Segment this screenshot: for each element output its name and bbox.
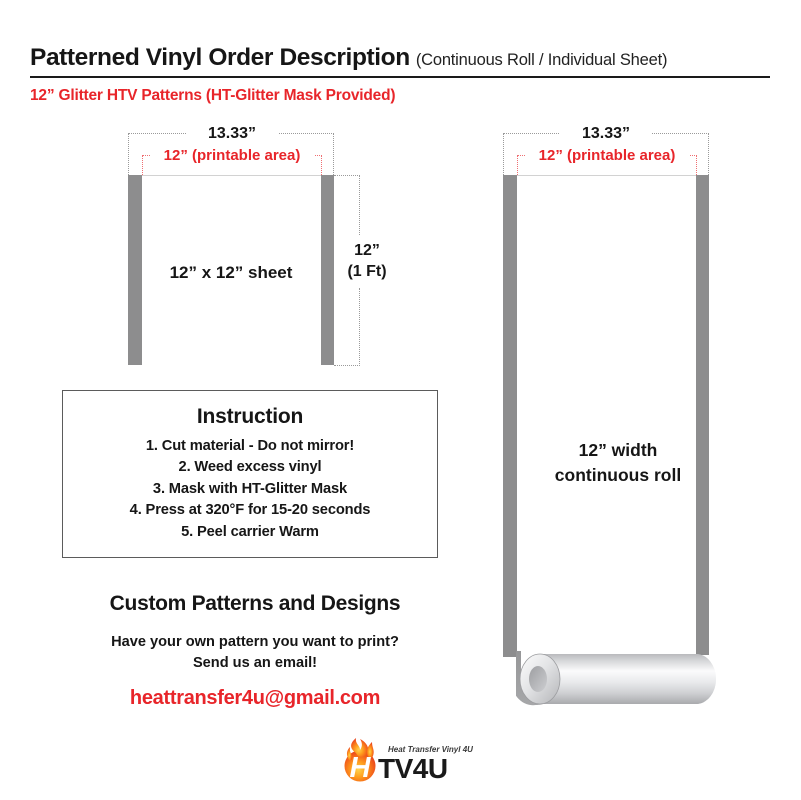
roll-printable-dim-tick-right — [696, 155, 697, 175]
roll-left-margin-bar — [503, 175, 517, 657]
instruction-step-list: 1. Cut material - Do not mirror! 2. Weed… — [63, 436, 437, 543]
roll-printable-dim-tick-left — [517, 155, 518, 175]
logo-letter-h: H — [350, 752, 372, 784]
custom-patterns-question-line2: Send us an email! — [55, 653, 455, 674]
sheet-height-dim-line-lower — [359, 288, 360, 366]
sheet-printable-dim-tick-left — [142, 155, 143, 175]
sheet-height-label: 12” (1 Ft) — [338, 240, 396, 282]
roll-outer-dim-tick-right — [708, 133, 709, 175]
list-item: 1. Cut material - Do not mirror! — [63, 436, 437, 457]
sheet-height-dim-tick-bottom — [334, 365, 360, 366]
header-divider — [30, 76, 770, 78]
sheet-printable-dim-tick-right — [321, 155, 322, 175]
sheet-face-caption: 12” x 12” sheet — [140, 263, 322, 283]
sheet-height-dim-tick-top — [334, 175, 360, 176]
roll-cylinder-icon — [516, 651, 718, 707]
custom-patterns-question-line1: Have your own pattern you want to print? — [55, 632, 455, 653]
roll-outer-dim-tick-left — [503, 133, 504, 175]
sheet-total-width-label: 13.33” — [186, 126, 278, 142]
instruction-box: Instruction 1. Cut material - Do not mir… — [62, 390, 438, 558]
list-item: 5. Peel carrier Warm — [63, 522, 437, 543]
list-item: 2. Weed excess vinyl — [63, 457, 437, 478]
sheet-height-label-line1: 12” — [338, 240, 396, 261]
roll-total-width-label: 13.33” — [560, 126, 652, 142]
sheet-printable-width-label: 12” (printable area) — [150, 148, 314, 163]
roll-printable-width-label: 12” (printable area) — [525, 148, 689, 163]
roll-printable-face — [517, 175, 696, 658]
custom-patterns-heading: Custom Patterns and Designs — [55, 592, 455, 616]
sheet-right-margin-bar — [321, 175, 334, 365]
page-subtitle: (Continuous Roll / Individual Sheet) — [416, 51, 667, 70]
roll-caption-line1: 12” width — [515, 438, 721, 463]
list-item: 3. Mask with HT-Glitter Mask — [63, 479, 437, 500]
title-row: Patterned Vinyl Order Description (Conti… — [30, 44, 770, 72]
logo-wordmark: TV4U — [378, 753, 448, 784]
sheet-height-dim-line-upper — [359, 175, 360, 235]
sheet-outer-dim-tick-left — [128, 133, 129, 175]
brand-logo: H Heat Transfer Vinyl 4U TV4U — [336, 736, 486, 786]
roll-right-margin-bar — [696, 175, 709, 655]
custom-patterns-section: Custom Patterns and Designs Have your ow… — [55, 592, 455, 710]
instruction-title: Instruction — [63, 405, 437, 429]
roll-caption-line2: continuous roll — [515, 463, 721, 488]
roll-caption: 12” width continuous roll — [515, 438, 721, 488]
list-item: 4. Press at 320°F for 15-20 seconds — [63, 500, 437, 521]
page-header: Patterned Vinyl Order Description (Conti… — [30, 44, 770, 105]
section-subtitle: 12” Glitter HTV Patterns (HT-Glitter Mas… — [30, 87, 770, 105]
sheet-height-label-line2: (1 Ft) — [338, 261, 396, 282]
contact-email[interactable]: heattransfer4u@gmail.com — [55, 687, 455, 710]
page-title: Patterned Vinyl Order Description — [30, 44, 410, 72]
sheet-outer-dim-tick-right — [333, 133, 334, 175]
logo-svg: H Heat Transfer Vinyl 4U TV4U — [336, 736, 486, 786]
